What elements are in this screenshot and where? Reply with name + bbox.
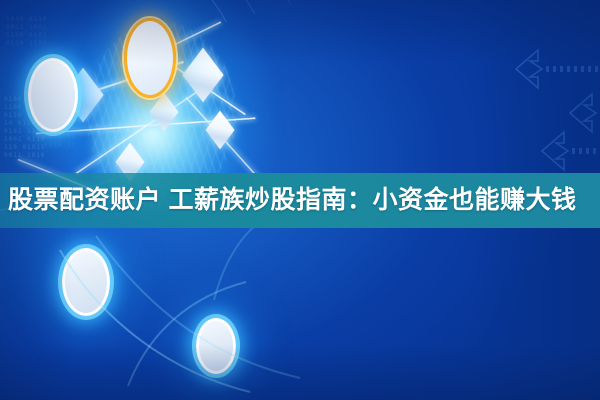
banner-title-text: 股票配资账户 工薪族炒股指南：小资金也能赚大钱 — [8, 188, 576, 213]
title-banner: 股票配资账户 工薪族炒股指南：小资金也能赚大钱 — [0, 173, 600, 228]
banner-image: 01001 1010 1100 01 101 0110 1001 10 0110… — [0, 0, 600, 400]
